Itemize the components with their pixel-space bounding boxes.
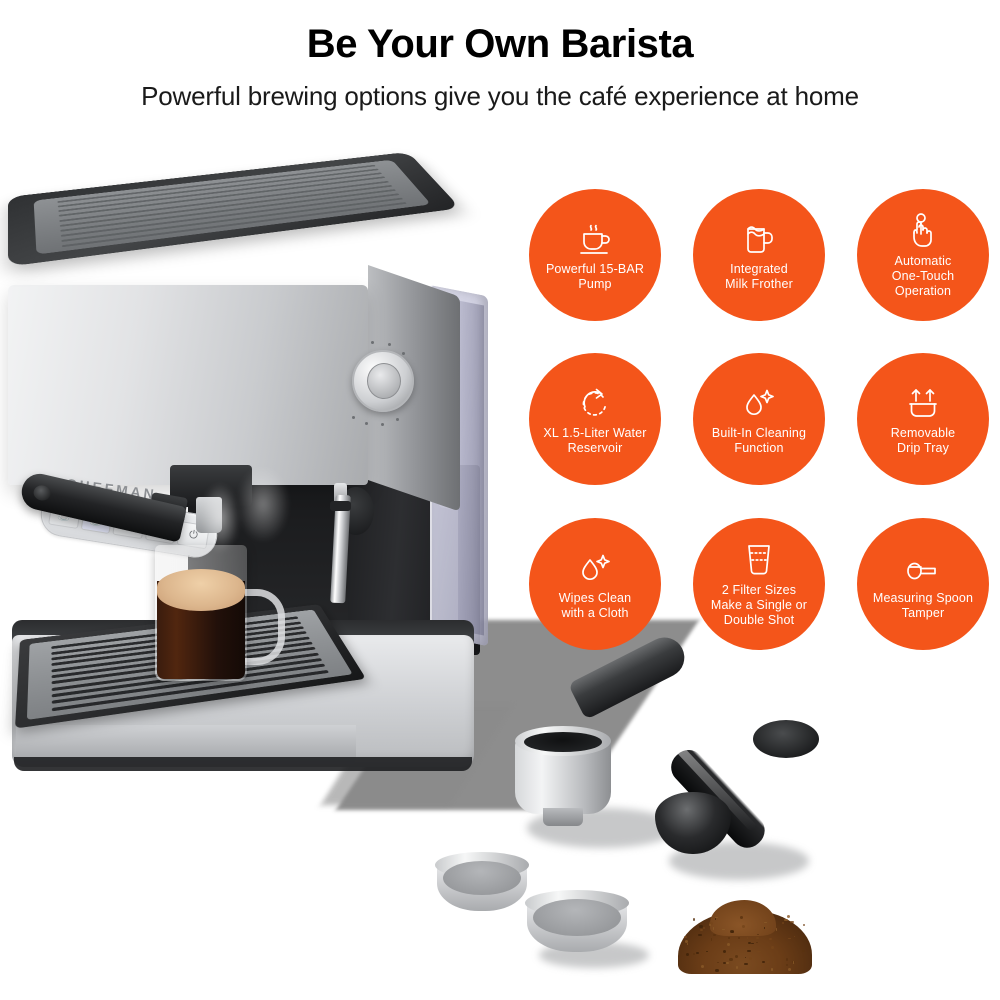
feature-badge[interactable]: Wipes Cleanwith a Cloth bbox=[529, 518, 661, 650]
coffee-ground-speck bbox=[771, 946, 774, 949]
coffee-ground-speck bbox=[761, 964, 764, 966]
feature-badge-label: 2 Filter SizesMake a Single orDouble Sho… bbox=[711, 583, 807, 628]
feature-badge[interactable]: Built-In CleaningFunction bbox=[693, 353, 825, 485]
coffee-ground-speck bbox=[771, 968, 772, 971]
coffee-ground-speck bbox=[736, 966, 738, 969]
dial-tick bbox=[381, 423, 384, 426]
coffee-ground-speck bbox=[747, 950, 751, 952]
feature-badge-label: RemovableDrip Tray bbox=[891, 426, 956, 456]
tamper-disc bbox=[753, 720, 819, 758]
milk-pitcher-icon bbox=[738, 217, 780, 257]
coffee-ground-speck bbox=[703, 927, 705, 929]
dial-tick bbox=[402, 352, 405, 355]
portafilter-basket-holder bbox=[515, 726, 611, 822]
reservoir-shading bbox=[458, 300, 484, 635]
feature-badge-label: Powerful 15-BARPump bbox=[546, 262, 644, 292]
coffee-ground-speck bbox=[698, 934, 702, 936]
coffee-ground-speck bbox=[684, 936, 687, 938]
coffee-ground-speck bbox=[727, 943, 730, 946]
machine-top-lid bbox=[8, 152, 460, 267]
ground-coffee-pile bbox=[670, 888, 820, 974]
droplet-sparkle-icon bbox=[738, 381, 780, 421]
coffee-ground-speck bbox=[769, 938, 772, 939]
feature-badge[interactable]: XL 1.5-Liter WaterReservoir bbox=[529, 353, 661, 485]
coffee-ground-speck bbox=[802, 950, 805, 952]
refresh-cycle-icon bbox=[574, 381, 616, 421]
coffee-ground-speck bbox=[715, 918, 716, 919]
selector-dial-center bbox=[367, 363, 401, 399]
coffee-ground-speck bbox=[687, 943, 688, 945]
dial-tick bbox=[396, 418, 399, 421]
feature-badge[interactable]: Measuring SpoonTamper bbox=[857, 518, 989, 650]
feature-badge[interactable]: AutomaticOne-TouchOperation bbox=[857, 189, 989, 321]
feature-badge-label: Measuring SpoonTamper bbox=[873, 591, 973, 621]
steam-vapor bbox=[236, 465, 290, 543]
coffee-grounds-peak bbox=[710, 900, 776, 936]
measuring-spoon-icon bbox=[902, 546, 944, 586]
feature-badge-label: IntegratedMilk Frother bbox=[725, 262, 793, 292]
cup-glass bbox=[155, 545, 247, 681]
filter-basket-single bbox=[435, 852, 529, 914]
product-infographic: Be Your Own Barista Powerful brewing opt… bbox=[0, 0, 1000, 1000]
coffee-ground-speck bbox=[693, 953, 694, 955]
dial-tick bbox=[352, 416, 355, 419]
espresso-crema bbox=[157, 569, 245, 611]
coffee-ground-speck bbox=[788, 938, 791, 939]
coffee-cup-icon bbox=[574, 217, 616, 257]
page-title: Be Your Own Barista bbox=[0, 0, 1000, 67]
feature-badge-label: Wipes Cleanwith a Cloth bbox=[559, 591, 632, 621]
coffee-ground-speck bbox=[726, 962, 729, 964]
page-subtitle: Powerful brewing options give you the ca… bbox=[0, 67, 1000, 112]
coffee-ground-speck bbox=[786, 958, 788, 960]
spoon-bowl bbox=[655, 792, 731, 854]
feature-badge-label: AutomaticOne-TouchOperation bbox=[892, 254, 955, 299]
steam-wand-collar bbox=[330, 501, 351, 511]
espresso-machine-image: CHEFMAN ☕☕⏻♨⏻ bbox=[0, 165, 500, 805]
feature-badge-label: Built-In CleaningFunction bbox=[712, 426, 806, 456]
coffee-ground-speck bbox=[700, 929, 703, 931]
cup-warming-plate bbox=[34, 160, 432, 255]
coffee-ground-speck bbox=[699, 925, 703, 928]
coffee-ground-speck bbox=[762, 961, 766, 962]
feature-badge[interactable]: IntegratedMilk Frother bbox=[693, 189, 825, 321]
feature-badges-grid: Powerful 15-BARPump IntegratedMilk Froth… bbox=[529, 189, 989, 659]
machine-base-foot bbox=[14, 757, 472, 771]
touch-hand-icon bbox=[902, 209, 944, 249]
filter-basket-interior bbox=[533, 899, 620, 936]
accessories-group bbox=[455, 660, 875, 990]
coffee-ground-speck bbox=[730, 930, 733, 933]
basket-holder-cavity bbox=[524, 732, 602, 752]
feature-badge[interactable]: RemovableDrip Tray bbox=[857, 353, 989, 485]
feature-badge[interactable]: Powerful 15-BARPump bbox=[529, 189, 661, 321]
droplet-sparkle-icon bbox=[574, 546, 616, 586]
coffee-ground-speck bbox=[693, 918, 696, 921]
measuring-spoon-tamper bbox=[645, 720, 825, 870]
coffee-ground-speck bbox=[787, 915, 791, 918]
filter-basket-double bbox=[525, 890, 629, 956]
coffee-ground-speck bbox=[803, 924, 806, 926]
espresso-cup bbox=[155, 545, 263, 683]
steam-vapor bbox=[200, 483, 240, 553]
coffee-ground-speck bbox=[790, 921, 794, 923]
feature-badge[interactable]: 2 Filter SizesMake a Single orDouble Sho… bbox=[693, 518, 825, 650]
coffee-ground-speck bbox=[715, 969, 718, 972]
coffee-ground-speck bbox=[742, 925, 745, 928]
coffee-ground-speck bbox=[740, 916, 743, 919]
feature-badge-label: XL 1.5-Liter WaterReservoir bbox=[543, 426, 646, 456]
coffee-ground-speck bbox=[717, 962, 720, 963]
drip-tray-arrows-icon bbox=[902, 381, 944, 421]
coffee-ground-speck bbox=[784, 919, 788, 920]
filter-glass-icon bbox=[738, 538, 780, 578]
coffee-ground-speck bbox=[747, 937, 748, 938]
dial-tick bbox=[371, 341, 374, 344]
basket-holder-foot bbox=[543, 808, 583, 826]
coffee-ground-speck bbox=[744, 963, 748, 965]
dial-tick bbox=[388, 343, 391, 346]
selector-dial[interactable] bbox=[352, 350, 414, 412]
coffee-ground-speck bbox=[709, 924, 710, 926]
coffee-ground-speck bbox=[756, 937, 758, 939]
machine-head-front: CHEFMAN ☕☕⏻♨⏻ bbox=[8, 285, 368, 485]
portafilter-handle-cap bbox=[32, 484, 52, 502]
dial-tick bbox=[365, 422, 368, 425]
coffee-ground-speck bbox=[751, 943, 754, 944]
coffee-ground-speck bbox=[729, 958, 733, 961]
header: Be Your Own Barista Powerful brewing opt… bbox=[0, 0, 1000, 112]
